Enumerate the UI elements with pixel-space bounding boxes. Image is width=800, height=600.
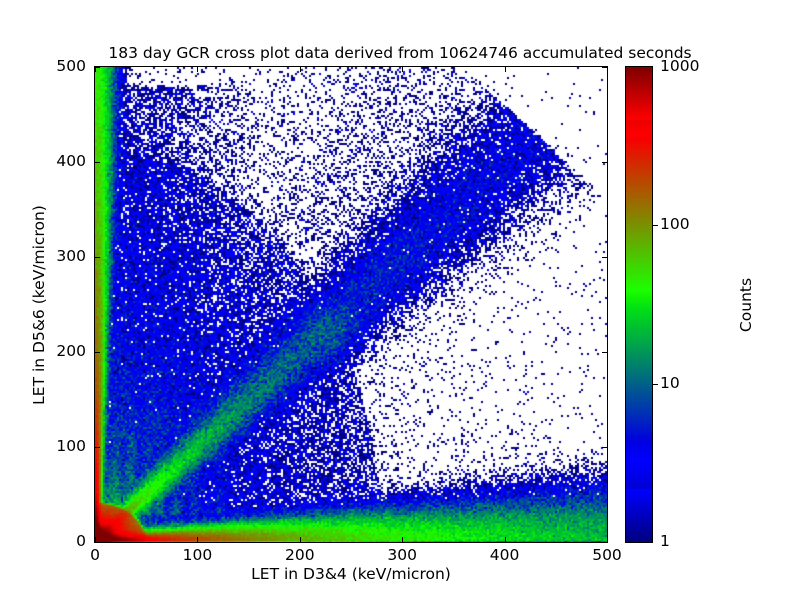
x-tick-mark [402, 537, 403, 542]
x-tick-mark-top [505, 67, 506, 72]
y-axis-label: LET in D5&6 (keV/micron) [30, 65, 48, 545]
y-tick-mark [95, 67, 100, 68]
colorbar-gradient [626, 67, 652, 542]
x-tick-mark [300, 537, 301, 542]
x-tick-mark-top [197, 67, 198, 72]
x-tick-label: 300 [372, 546, 432, 564]
y-tick-mark-right [602, 67, 607, 68]
figure-canvas: 183 day GCR cross plot data derived from… [0, 0, 800, 600]
x-tick-mark-top [607, 67, 608, 72]
density-scatter-plot [95, 67, 607, 542]
colorbar-label: Counts [737, 155, 755, 455]
y-tick-mark [95, 162, 100, 163]
y-tick-mark-right [602, 352, 607, 353]
colorbar-tick-mark [653, 225, 658, 226]
y-tick-mark-right [602, 542, 607, 543]
x-tick-mark-top [300, 67, 301, 72]
y-tick-mark-right [602, 162, 607, 163]
x-tick-label: 400 [475, 546, 535, 564]
x-tick-mark [505, 537, 506, 542]
colorbar-frame [625, 66, 653, 543]
colorbar-tick-label: 100 [660, 215, 690, 233]
colorbar-tick-label: 1000 [660, 57, 699, 75]
y-tick-mark [95, 257, 100, 258]
x-tick-label: 200 [270, 546, 330, 564]
x-tick-label: 100 [167, 546, 227, 564]
x-tick-mark [607, 537, 608, 542]
colorbar-tick-mark [653, 384, 658, 385]
y-tick-mark [95, 542, 100, 543]
x-tick-label: 500 [577, 546, 637, 564]
y-tick-mark [95, 352, 100, 353]
colorbar-tick-label: 10 [660, 374, 680, 392]
colorbar-tick-label: 1 [660, 532, 670, 550]
x-axis-label: LET in D3&4 (keV/micron) [94, 565, 608, 583]
y-tick-mark [95, 447, 100, 448]
y-tick-mark-right [602, 257, 607, 258]
y-tick-mark-right [602, 447, 607, 448]
colorbar[interactable] [625, 66, 653, 543]
plot-axes[interactable] [94, 66, 608, 543]
x-tick-mark [197, 537, 198, 542]
x-tick-mark-top [402, 67, 403, 72]
